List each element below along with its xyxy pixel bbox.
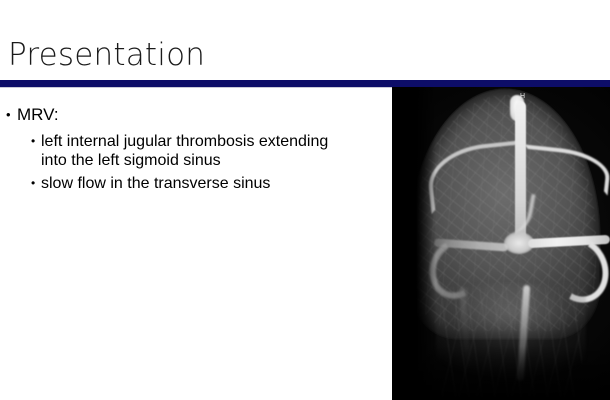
slide-body-text: • MRV: • left internal jugular thrombosi… [0, 104, 390, 400]
bullet-label: MRV: [17, 105, 59, 124]
sub-bullet-marker-icon: • [31, 132, 35, 151]
title-divider-bar [0, 80, 610, 87]
panel-bottom-shadow [392, 346, 610, 400]
sub-bullet-item-slow-flow: • slow flow in the transverse sinus [0, 174, 341, 193]
sub-bullet-label: slow flow in the transverse sinus [41, 175, 270, 192]
mrv-image-panel: H [392, 87, 610, 400]
orientation-marker-label: H [520, 93, 525, 100]
mrv-image-canvas: H [392, 87, 610, 400]
page-title: Presentation [8, 36, 205, 74]
sub-bullet-item-thrombosis: • left internal jugular thrombosis exten… [0, 132, 341, 170]
presentation-slide: Presentation • MRV: • left internal jugu… [0, 0, 610, 400]
sub-bullet-label: left internal jugular thrombosis extendi… [41, 133, 328, 169]
sub-bullet-marker-icon: • [31, 174, 35, 193]
sub-bullet-list: • left internal jugular thrombosis exten… [0, 132, 390, 193]
bullet-item-mrv: • MRV: [0, 104, 390, 126]
bullet-marker-icon: • [6, 104, 11, 126]
